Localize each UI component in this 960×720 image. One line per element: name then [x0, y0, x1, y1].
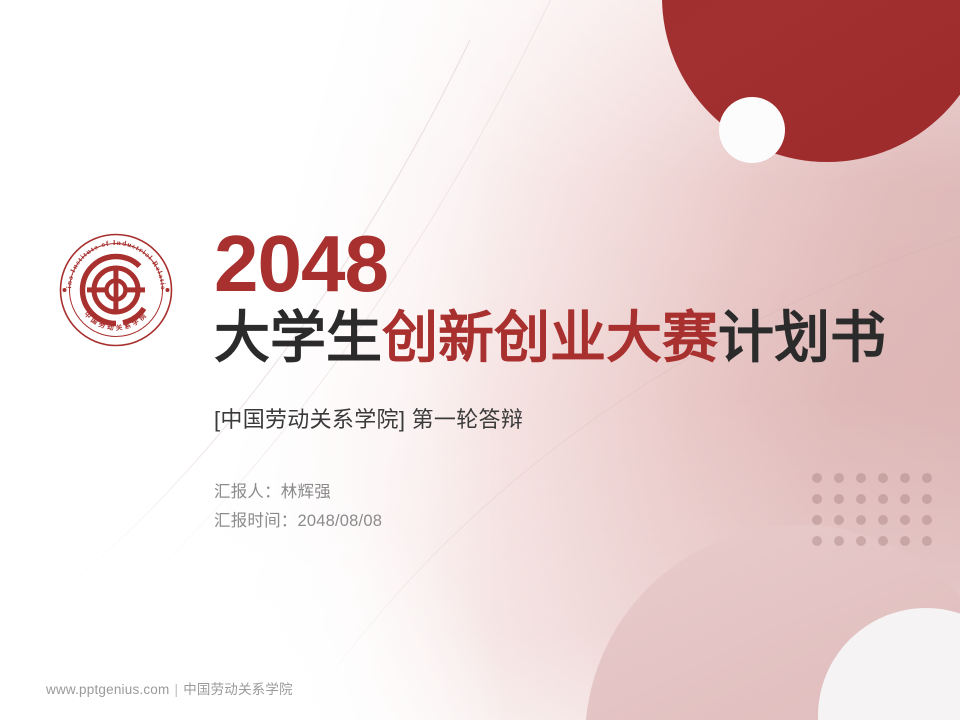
slide-footer: www.pptgenius.com|中国劳动关系学院: [46, 678, 293, 698]
footer-website: www.pptgenius.com: [46, 682, 169, 697]
date-line: 汇报时间：2048/08/08: [214, 507, 914, 535]
headline-segment-accent: 创新创业大赛: [382, 306, 718, 369]
title-slide: China Institute of Industrial Relations …: [0, 0, 960, 720]
presenter-line: 汇报人：林辉强: [214, 478, 914, 506]
subtitle-text: [中国劳动关系学院] 第一轮答辩: [214, 402, 914, 434]
white-accent-circle: [719, 97, 785, 163]
university-emblem-icon: China Institute of Industrial Relations …: [55, 229, 177, 351]
year-heading: 2048: [214, 226, 914, 302]
presentation-meta: 汇报人：林辉强 汇报时间：2048/08/08: [214, 478, 914, 535]
headline-segment-dark-start: 大学生: [214, 306, 382, 369]
headline-segment-dark-end: 计划书: [718, 306, 886, 369]
title-text-block: 2048 大学生创新创业大赛计划书 [中国劳动关系学院] 第一轮答辩 汇报人：林…: [214, 226, 914, 535]
footer-organization: 中国劳动关系学院: [183, 682, 293, 697]
footer-separator: |: [174, 682, 178, 697]
main-headline: 大学生创新创业大赛计划书: [214, 308, 914, 368]
